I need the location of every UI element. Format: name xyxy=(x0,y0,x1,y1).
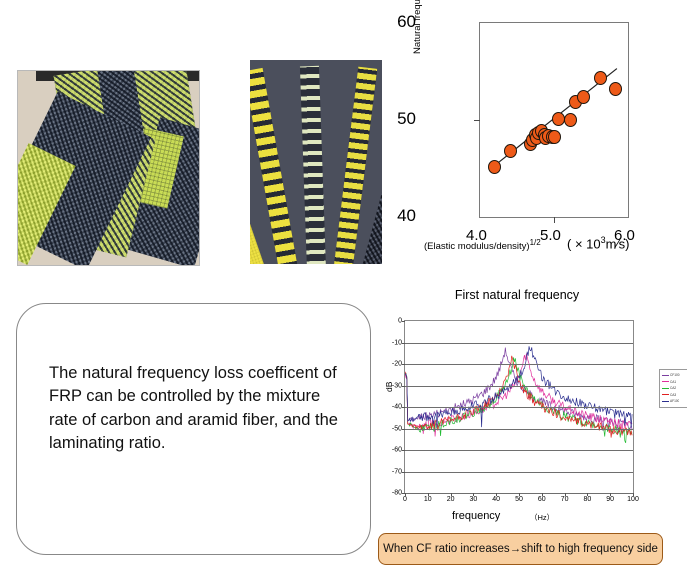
frf-legend-label: CF100 xyxy=(670,373,680,377)
frf-x-tick-label: 100 xyxy=(627,496,639,503)
frf-y-tick-label: -60 xyxy=(392,447,402,454)
frf-x-tick-label: 50 xyxy=(515,496,523,503)
frf-y-tick-label: -40 xyxy=(392,404,402,411)
scatter-x-tick xyxy=(554,217,555,223)
frf-y-tick xyxy=(402,364,405,365)
frf-x-tick xyxy=(542,493,543,496)
scatter-x-axis-title-text: (Elastic modulus/density) xyxy=(424,241,530,252)
frf-y-tick xyxy=(402,429,405,430)
frf-x-tick-label: 80 xyxy=(583,496,591,503)
frf-gridline xyxy=(405,343,633,344)
frf-y-tick-label: -80 xyxy=(392,490,402,497)
scatter-y-tick-label: 40 xyxy=(382,206,416,226)
frf-x-tick xyxy=(565,493,566,496)
frf-legend-color-swatch xyxy=(662,388,669,389)
scatter-y-tick-label: 60 xyxy=(382,12,416,32)
frf-y-tick xyxy=(402,321,405,322)
frf-x-tick-label: 90 xyxy=(606,496,614,503)
scatter-data-point xyxy=(609,82,622,96)
frf-x-tick-label: 10 xyxy=(424,496,432,503)
scatter-data-point xyxy=(577,90,590,104)
scatter-data-point xyxy=(488,160,501,174)
frf-x-tick-label: 60 xyxy=(538,496,546,503)
frf-y-tick-label: -30 xyxy=(392,382,402,389)
scatter-x-axis-unit: ( × 103m∕s) xyxy=(567,235,629,251)
scatter-data-point xyxy=(552,112,565,126)
modulus-vs-frequency-scatter-chart: Natural frequency (Hz) 4050604.05.06.0 (… xyxy=(424,14,674,254)
scatter-y-tick-label: 50 xyxy=(382,109,416,129)
statement-text: The natural frequency loss coefficent of… xyxy=(49,362,349,456)
hybrid-panels-photo xyxy=(17,70,200,266)
frf-y-tick-label: -70 xyxy=(392,468,402,475)
frf-x-tick xyxy=(405,493,406,496)
frf-x-tick xyxy=(519,493,520,496)
frf-x-tick xyxy=(633,493,634,496)
frf-legend-label: CA3 xyxy=(670,393,676,397)
scatter-y-tick xyxy=(474,120,480,121)
frf-gridline xyxy=(405,407,633,408)
frf-legend[interactable]: CF100CA1CA2CA3AF100 xyxy=(659,369,687,408)
strip-hybrid-1 xyxy=(250,68,303,264)
frf-x-tick xyxy=(428,493,429,496)
frf-x-tick-label: 70 xyxy=(561,496,569,503)
scatter-x-axis-title: (Elastic modulus/density)1/2 xyxy=(424,238,541,252)
frf-x-axis-unit: （Hz） xyxy=(530,512,554,523)
conclusion-banner-text: When CF ratio increases→shift to high fr… xyxy=(383,543,658,555)
scatter-data-point xyxy=(548,130,561,144)
frf-x-tick xyxy=(473,493,474,496)
frf-gridline xyxy=(405,364,633,365)
frf-x-tick-label: 30 xyxy=(469,496,477,503)
frf-legend-item[interactable]: AF100 xyxy=(661,398,687,405)
frf-legend-label: AF100 xyxy=(670,399,679,403)
frf-x-tick-label: 20 xyxy=(447,496,455,503)
frf-legend-color-swatch xyxy=(662,375,669,376)
frf-gridline xyxy=(405,386,633,387)
frf-x-axis-title: frequency xyxy=(452,510,500,522)
frf-y-tick xyxy=(402,343,405,344)
frf-gridline xyxy=(405,429,633,430)
strip-hybrid-2 xyxy=(300,66,327,264)
scatter-x-axis-exponent: 1/2 xyxy=(530,238,541,247)
frf-series-ca2 xyxy=(405,357,632,443)
frf-gridline xyxy=(405,472,633,473)
frf-y-tick xyxy=(402,472,405,473)
frf-y-tick xyxy=(402,407,405,408)
frf-x-tick-label: 40 xyxy=(492,496,500,503)
frf-legend-color-swatch xyxy=(662,394,669,395)
frf-chart: First natural frequency dB 0-10-20-30-40… xyxy=(382,288,687,533)
frf-y-tick xyxy=(402,386,405,387)
frf-legend-label: CA1 xyxy=(670,380,676,384)
frf-x-tick xyxy=(496,493,497,496)
scatter-x-tick-label: 5.0 xyxy=(540,227,561,244)
specimen-strips-photo xyxy=(250,60,382,264)
frf-legend-label: CA2 xyxy=(670,386,676,390)
frf-y-tick-label: -20 xyxy=(392,361,402,368)
frf-gridline xyxy=(405,450,633,451)
frf-series-af100 xyxy=(405,346,632,427)
frf-x-tick-label: 0 xyxy=(403,496,407,503)
statement-callout-box: The natural frequency loss coefficent of… xyxy=(16,303,371,555)
frf-y-tick xyxy=(402,450,405,451)
frf-legend-color-swatch xyxy=(662,401,669,402)
conclusion-banner: When CF ratio increases→shift to high fr… xyxy=(378,533,663,565)
scatter-plot-area: 4050604.05.06.0 xyxy=(479,22,629,218)
frf-x-tick xyxy=(610,493,611,496)
frf-y-tick-label: -10 xyxy=(392,339,402,346)
frf-legend-color-swatch xyxy=(662,381,669,382)
frf-y-tick-label: -50 xyxy=(392,425,402,432)
frf-plot-area: 0-10-20-30-40-50-60-70-80010203040506070… xyxy=(404,320,634,494)
frf-chart-title: First natural frequency xyxy=(382,288,652,302)
frf-x-tick xyxy=(451,493,452,496)
frf-x-tick xyxy=(587,493,588,496)
